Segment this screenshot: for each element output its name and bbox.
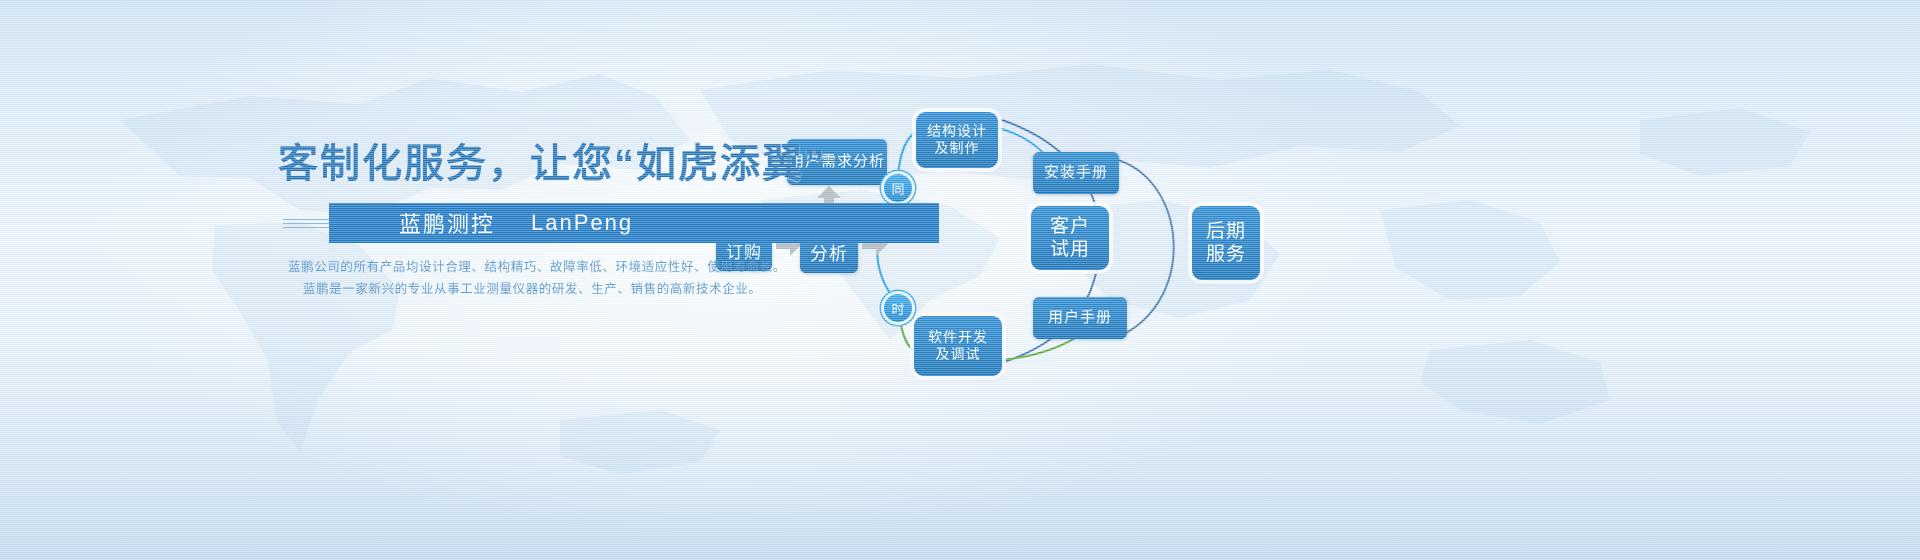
flow-node-installation-manual[interactable]: 安装手册 bbox=[1033, 152, 1119, 194]
flow-node-structural-design[interactable]: 结构设计 及制作 bbox=[916, 112, 998, 168]
flow-node-label: 结构设计 及制作 bbox=[927, 123, 987, 157]
flow-node-label: 后期 服务 bbox=[1206, 220, 1246, 266]
process-flow-diagram: 用户需求分析 客户 订购 需求 分析 结构设计 及制作 安装手册 客 bbox=[0, 0, 1920, 560]
flow-badge-shi: 时 bbox=[884, 294, 912, 322]
flow-node-after-sales-service[interactable]: 后期 服务 bbox=[1192, 206, 1260, 280]
brand-name-cn: 蓝鹏测控 bbox=[399, 207, 495, 239]
subtitle-line-1: 蓝鹏公司的所有产品均设计合理、结构精巧、故障率低、环境适应性好、使用寿命长。 bbox=[288, 256, 786, 275]
flow-node-user-manual[interactable]: 用户手册 bbox=[1033, 297, 1127, 339]
flow-node-customer-trial[interactable]: 客户 试用 bbox=[1031, 206, 1109, 270]
flow-node-label: 客户 试用 bbox=[1050, 215, 1090, 261]
brand-name-en: LanPeng bbox=[531, 210, 633, 236]
brand-row: 蓝鹏测控 LanPeng bbox=[283, 203, 683, 243]
flow-node-software-development[interactable]: 软件开发 及调试 bbox=[914, 316, 1002, 376]
subtitle-line-2: 蓝鹏是一家新兴的专业从事工业测量仪器的研发、生产、销售的高新技术企业。 bbox=[303, 278, 762, 297]
page-headline: 客制化服务，让您“如虎添翼” bbox=[278, 140, 826, 188]
banner-stage: 客制化服务，让您“如虎添翼” 蓝鹏测控 LanPeng 蓝鹏公司的所有产品均设计… bbox=[0, 0, 1920, 560]
brand-bar: 蓝鹏测控 LanPeng bbox=[329, 203, 939, 243]
flow-node-label: 用户手册 bbox=[1048, 309, 1112, 327]
flow-node-label: 软件开发 及调试 bbox=[928, 329, 988, 363]
flow-badge-tong: 同 bbox=[884, 174, 912, 202]
flow-node-label: 安装手册 bbox=[1044, 164, 1108, 182]
flow-badge-label: 同 bbox=[891, 179, 904, 198]
flow-badge-label: 时 bbox=[891, 299, 904, 318]
flow-connectors bbox=[0, 0, 1920, 560]
